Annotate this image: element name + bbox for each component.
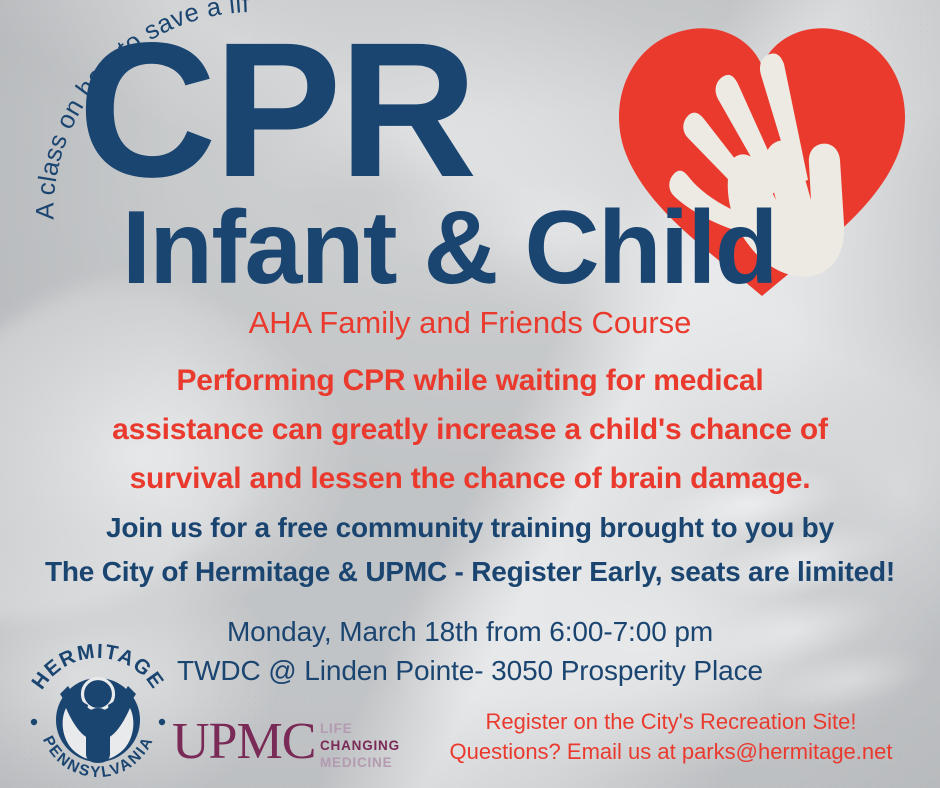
upmc-tagline-changing: CHANGING — [320, 738, 400, 753]
course-name-line: AHA Family and Friends Course — [0, 306, 940, 340]
registration-email-line[interactable]: Questions? Email us at parks@hermitage.n… — [436, 737, 906, 767]
upmc-wordmark: UPMC — [172, 716, 315, 770]
invitation-line-2: The City of Hermitage & UPMC - Register … — [10, 550, 930, 594]
pitch-line-1: Performing CPR while waiting for medical — [24, 356, 916, 405]
page-subtitle-infant-child: Infant & Child — [122, 196, 777, 300]
hermitage-separator-dot-right — [159, 719, 165, 725]
pitch-line-3: survival and lessen the chance of brain … — [24, 454, 916, 503]
upmc-tagline-medicine: MEDICINE — [320, 755, 392, 770]
page-title-cpr: CPR — [78, 14, 474, 206]
pitch-paragraph: Performing CPR while waiting for medical… — [24, 356, 916, 503]
upmc-logo: UPMC LIFE CHANGING MEDICINE — [172, 716, 416, 772]
registration-line-1: Register on the City's Recreation Site! — [436, 707, 906, 737]
hermitage-figure-icon — [56, 678, 140, 763]
cpr-class-flyer: A class on how to save a life CPR Infant… — [0, 0, 940, 788]
invitation-line-1: Join us for a free community training br… — [10, 506, 930, 550]
invitation-block: Join us for a free community training br… — [10, 506, 930, 594]
upmc-tagline-life: LIFE — [320, 721, 352, 736]
pitch-line-2: assistance can greatly increase a child'… — [24, 405, 916, 454]
hermitage-pennsylvania-logo: HERMITAGE PENNSYLVANIA — [22, 642, 174, 788]
registration-block: Register on the City's Recreation Site! … — [436, 707, 906, 767]
hermitage-separator-dot-left — [31, 719, 37, 725]
